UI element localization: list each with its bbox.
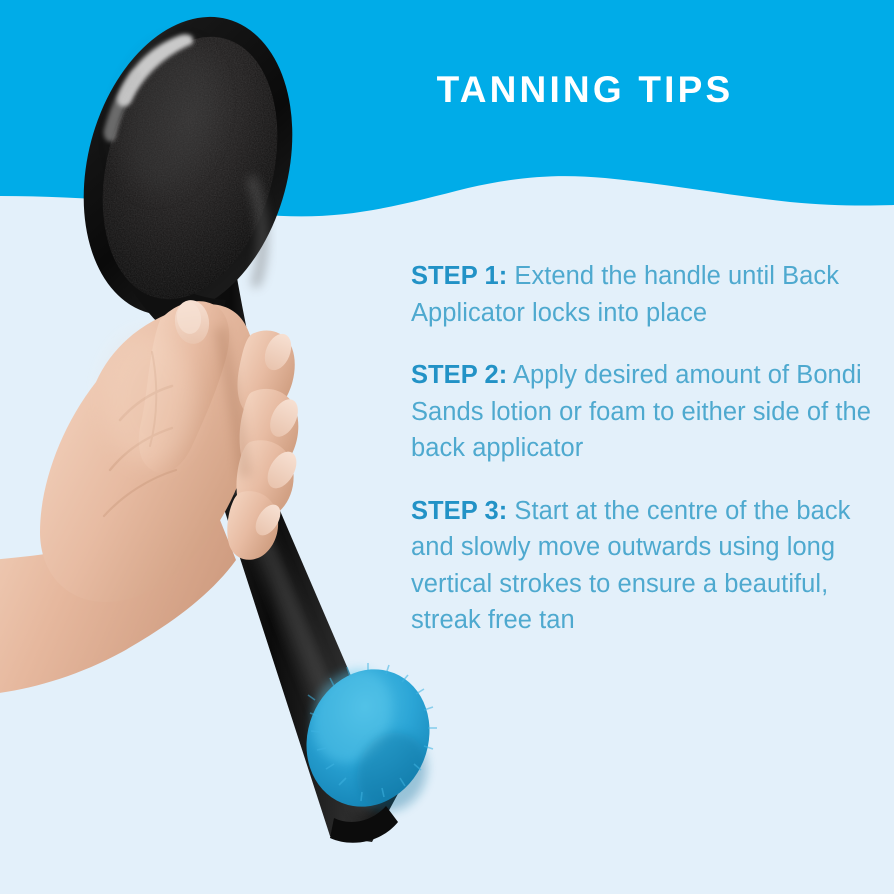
step-3-text: STEP 3: Start at the centre of the back … xyxy=(411,493,871,639)
tanning-tips-infographic: TANNING TIPS STEP 1: Extend the handle u… xyxy=(0,0,894,894)
step-1-label: STEP 1: xyxy=(411,262,507,290)
step-1-text: STEP 1: Extend the handle until Back App… xyxy=(411,258,871,331)
step-3-label: STEP 3: xyxy=(411,497,507,525)
page-title: TANNING TIPS xyxy=(300,68,870,112)
step-item-1: STEP 1: Extend the handle until Back App… xyxy=(411,258,871,331)
step-2-text: STEP 2: Apply desired amount of Bondi Sa… xyxy=(411,357,871,467)
step-item-2: STEP 2: Apply desired amount of Bondi Sa… xyxy=(411,357,871,467)
step-2-label: STEP 2: xyxy=(411,361,507,389)
step-item-3: STEP 3: Start at the centre of the back … xyxy=(411,493,871,639)
steps-list: STEP 1: Extend the handle until Back App… xyxy=(411,258,871,639)
